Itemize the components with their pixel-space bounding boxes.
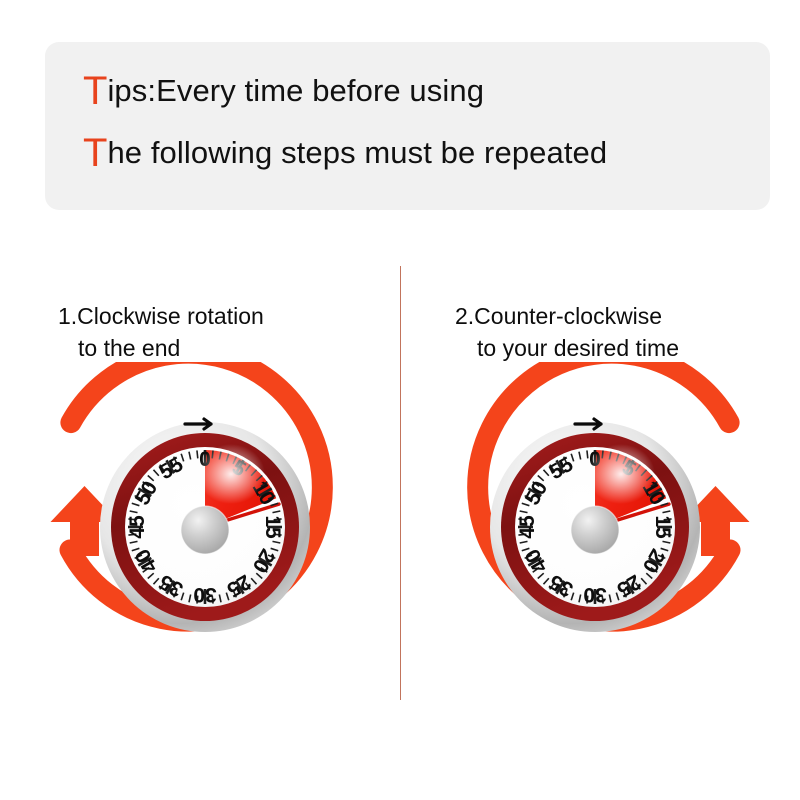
tips-line-1-text: ips:Every time before using — [107, 73, 484, 108]
panel-divider — [400, 266, 401, 700]
tips-line-2-capital: T — [83, 131, 107, 175]
dial-number-15: 15 — [651, 515, 674, 539]
dial-number-45: 45 — [126, 515, 149, 539]
tips-line-2-text: he following steps must be repeated — [107, 135, 607, 170]
step-2-timer-figure: 0 5 10 15 20 25 30 35 40 45 50 55 — [425, 362, 765, 682]
step-1-timer-figure: 0 5 10 15 20 25 30 35 40 45 50 55 — [35, 362, 375, 682]
tips-line-2: The following steps must be repeated — [83, 122, 770, 184]
tips-banner: Tips:Every time before using The followi… — [45, 42, 770, 210]
dial-number-30: 30 — [193, 583, 216, 606]
tips-line-1: Tips:Every time before using — [83, 60, 770, 122]
step-2-caption-line2: to your desired time — [455, 332, 785, 364]
dial-glare — [587, 444, 655, 504]
timer-dial: 0 5 10 15 20 25 30 35 40 45 50 55 — [100, 419, 310, 632]
tips-line-1-capital: T — [83, 69, 107, 113]
step-1-caption-line1: 1.Clockwise rotation — [58, 303, 264, 329]
dial-number-30: 30 — [583, 583, 606, 606]
step-1-caption-line2: to the end — [58, 332, 388, 364]
step-2-caption-line1: 2.Counter-clockwise — [455, 303, 662, 329]
page-root: Tips:Every time before using The followi… — [0, 0, 800, 800]
dial-number-15: 15 — [261, 515, 284, 539]
dial-glare — [197, 444, 265, 504]
timer-dial: 0 5 10 15 20 25 30 35 40 45 50 55 — [490, 419, 700, 632]
dial-number-45: 45 — [516, 515, 539, 539]
